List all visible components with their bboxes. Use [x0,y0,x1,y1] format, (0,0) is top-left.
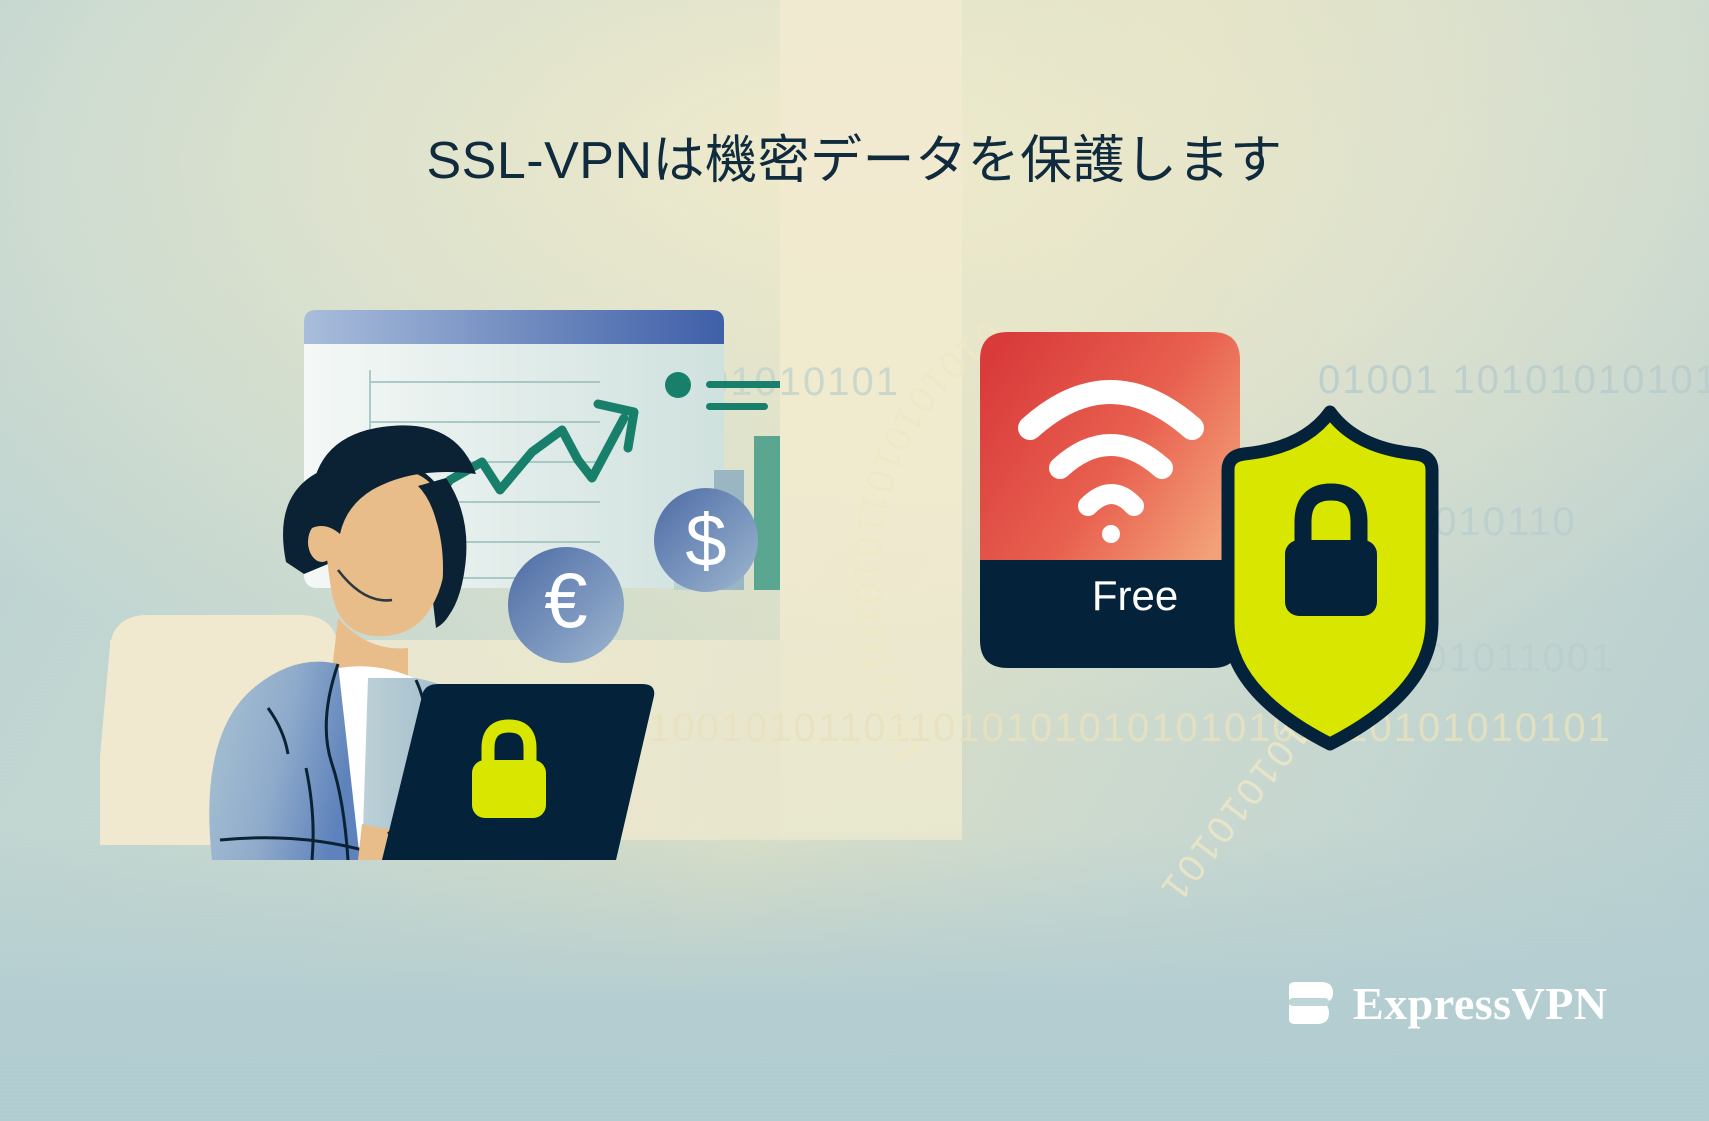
shield-icon [1228,412,1432,744]
brand-logo: ExpressVPN [1283,975,1608,1031]
page-title: SSL-VPNは機密データを保護します [0,118,1709,193]
poster-canvas: 01010101 01001 101010101010101 1010110 1… [0,0,1709,1121]
wifi-free-label: Free [1060,565,1210,627]
euro-coin: € [508,547,624,663]
brand-name: ExpressVPN [1353,977,1608,1030]
woman-at-laptop-illustration: € $ [100,300,780,860]
free-wifi-shield-illustration [960,320,1460,780]
dollar-coin-symbol: $ [685,499,726,582]
euro-coin-symbol: € [544,556,587,644]
dollar-coin: $ [654,488,758,592]
laptop-icon [382,684,654,860]
expressvpn-e-mark-icon [1283,975,1339,1031]
